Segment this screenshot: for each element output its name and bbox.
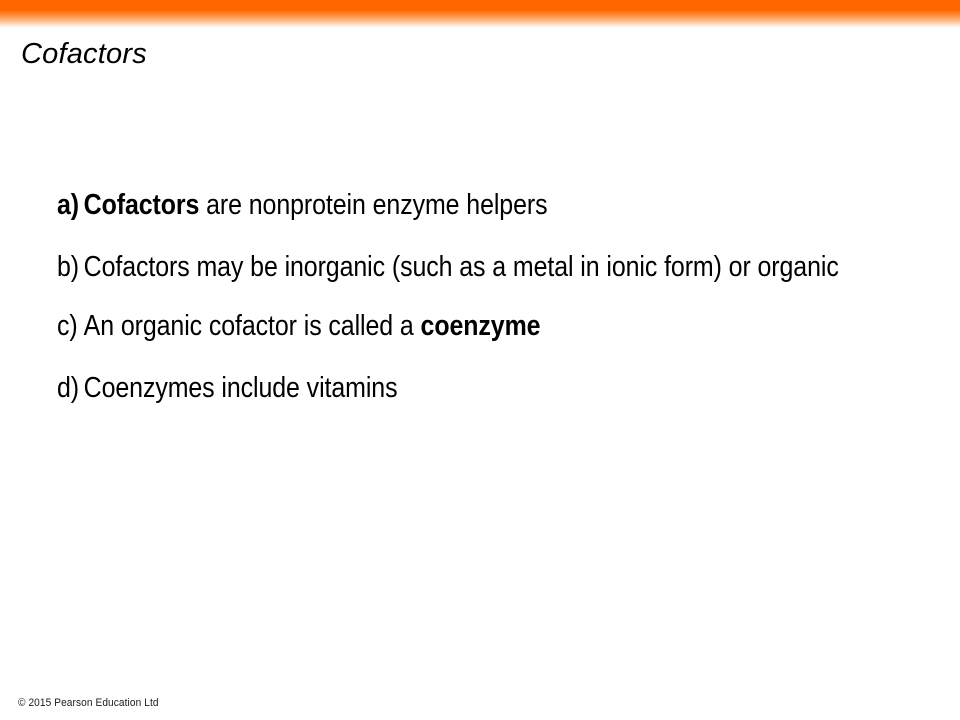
list-item: a) Cofactors are nonprotein enzyme helpe…: [57, 186, 929, 225]
list-item-text: Cofactors may be inorganic (such as a me…: [84, 248, 929, 287]
list-item-marker: b): [57, 248, 79, 287]
list-item: c) An organic cofactor is called a coenz…: [57, 307, 929, 346]
slide-canvas: Cofactors a) Cofactors are nonprotein en…: [0, 0, 960, 720]
list-item-text: An organic cofactor is called a coenzyme: [84, 307, 929, 346]
bullet-list: a) Cofactors are nonprotein enzyme helpe…: [57, 186, 902, 408]
top-accent-band: [0, 0, 960, 28]
list-item-marker: d): [57, 369, 79, 408]
list-item-text-regular: An organic cofactor is called a: [84, 310, 421, 342]
list-item-text-regular: are nonprotein enzyme helpers: [199, 189, 547, 221]
list-item-text: Cofactors are nonprotein enzyme helpers: [84, 186, 929, 225]
list-item-marker: c): [57, 307, 78, 346]
list-item-marker: a): [57, 186, 79, 225]
list-item-text-bold: Cofactors: [84, 189, 200, 221]
copyright-credit: © 2015 Pearson Education Ltd: [18, 696, 159, 710]
page-title: Cofactors: [21, 36, 921, 72]
list-item: d) Coenzymes include vitamins: [57, 369, 929, 408]
list-item: b) Cofactors may be inorganic (such as a…: [57, 248, 929, 287]
list-item-text-bold: coenzyme: [421, 310, 541, 342]
list-item-text: Coenzymes include vitamins: [84, 369, 929, 408]
accent-band-gradient: [0, 10, 960, 28]
accent-band-solid: [0, 0, 960, 10]
